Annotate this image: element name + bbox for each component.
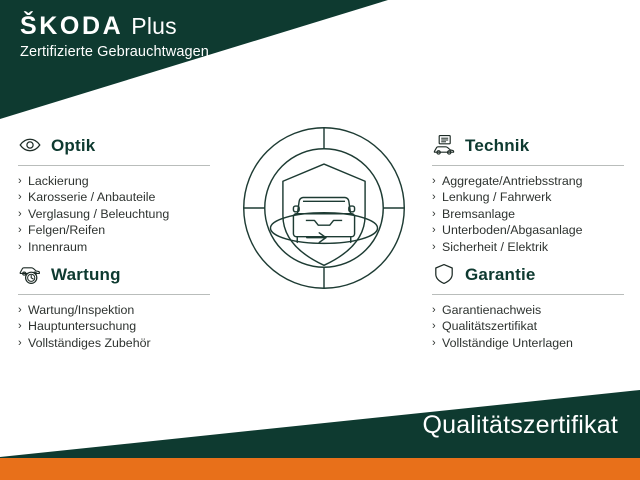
chevron-right-icon: › <box>18 318 22 334</box>
list-item-label: Vollständige Unterlagen <box>442 336 573 350</box>
section-wartung-title: Wartung <box>51 266 121 283</box>
list-item-label: Verglasung / Beleuchtung <box>28 207 169 221</box>
chevron-right-icon: › <box>18 189 22 205</box>
section-technik-title: Technik <box>465 137 529 154</box>
section-optik: Optik ›Lackierung ›Karosserie / Anbautei… <box>18 132 210 255</box>
chevron-right-icon: › <box>432 239 436 255</box>
section-garantie-list: ›Garantienachweis ›Qualitätszertifikat ›… <box>432 302 624 351</box>
section-garantie-title: Garantie <box>465 266 536 283</box>
list-item-label: Lenkung / Fahrwerk <box>442 190 552 204</box>
list-item: ›Garantienachweis <box>432 302 624 318</box>
brand-header: ŠKODA Plus Zertifizierte Gebrauchtwagen <box>20 14 209 60</box>
list-item-label: Aggregate/Antriebsstrang <box>442 174 583 188</box>
list-item: ›Unterboden/Abgasanlage <box>432 222 624 238</box>
section-wartung-list: ›Wartung/Inspektion ›Hauptuntersuchung ›… <box>18 302 210 351</box>
car-grille <box>306 220 342 225</box>
brand-tagline: Zertifizierte Gebrauchtwagen <box>20 44 209 60</box>
inner-arc-tl <box>265 149 324 208</box>
list-item-label: Qualitätszertifikat <box>442 319 537 333</box>
brand-sub-label: Plus <box>131 15 177 38</box>
shield-icon <box>432 262 456 286</box>
list-item: ›Vollständige Unterlagen <box>432 335 624 351</box>
chevron-right-icon: › <box>432 222 436 238</box>
list-item: ›Felgen/Reifen <box>18 222 210 238</box>
section-technik-rule <box>432 165 624 166</box>
car-service-clock-icon <box>18 262 42 286</box>
section-technik: Technik ›Aggregate/Antriebsstrang ›Lenku… <box>432 132 624 255</box>
section-optik-header: Optik <box>18 132 210 158</box>
list-item-label: Innenraum <box>28 240 87 254</box>
outer-arc-tr <box>324 128 404 208</box>
list-item: ›Karosserie / Anbauteile <box>18 189 210 205</box>
section-optik-list: ›Lackierung ›Karosserie / Anbauteile ›Ve… <box>18 173 210 255</box>
car-lift-icon <box>432 133 456 157</box>
list-item: ›Hauptuntersuchung <box>18 318 210 334</box>
chevron-right-icon: › <box>18 335 22 351</box>
list-item-label: Bremsanlage <box>442 207 515 221</box>
inner-arc-tr <box>324 149 383 208</box>
list-item-label: Wartung/Inspektion <box>28 303 134 317</box>
list-item-label: Hauptuntersuchung <box>28 319 136 333</box>
section-technik-list: ›Aggregate/Antriebsstrang ›Lenkung / Fah… <box>432 173 624 255</box>
section-wartung-header: Wartung <box>18 261 210 287</box>
list-item: ›Lackierung <box>18 173 210 189</box>
list-item: ›Vollständiges Zubehör <box>18 335 210 351</box>
chevron-right-icon: › <box>432 206 436 222</box>
brand-wordmark: ŠKODA <box>20 14 123 39</box>
shield-car-circle-icon <box>238 122 410 294</box>
list-item: ›Sicherheit / Elektrik <box>432 239 624 255</box>
list-item-label: Vollständiges Zubehör <box>28 336 151 350</box>
list-item-label: Unterboden/Abgasanlage <box>442 223 583 237</box>
section-wartung: Wartung ›Wartung/Inspektion ›Hauptunters… <box>18 261 210 351</box>
section-optik-rule <box>18 165 210 166</box>
footer-title: Qualitätszertifikat <box>422 413 618 438</box>
chevron-right-icon: › <box>18 206 22 222</box>
outer-arc-tl <box>244 128 324 208</box>
section-optik-title: Optik <box>51 137 95 154</box>
list-item: ›Qualitätszertifikat <box>432 318 624 334</box>
list-item: ›Innenraum <box>18 239 210 255</box>
chevron-right-icon: › <box>432 302 436 318</box>
section-garantie: Garantie ›Garantienachweis ›Qualitätszer… <box>432 261 624 351</box>
list-item-label: Sicherheit / Elektrik <box>442 240 548 254</box>
chevron-right-icon: › <box>432 173 436 189</box>
list-item: ›Wartung/Inspektion <box>18 302 210 318</box>
chevron-right-icon: › <box>432 189 436 205</box>
list-item: ›Bremsanlage <box>432 206 624 222</box>
list-item-label: Felgen/Reifen <box>28 223 105 237</box>
section-garantie-rule <box>432 294 624 295</box>
section-wartung-rule <box>18 294 210 295</box>
chevron-right-icon: › <box>18 302 22 318</box>
list-item-label: Lackierung <box>28 174 89 188</box>
chevron-right-icon: › <box>18 173 22 189</box>
inner-arc-br <box>324 208 383 267</box>
section-technik-header: Technik <box>432 132 624 158</box>
chevron-right-icon: › <box>432 335 436 351</box>
list-item-label: Garantienachweis <box>442 303 541 317</box>
infographic-page: ŠKODA Plus Zertifizierte Gebrauchtwagen … <box>0 0 640 480</box>
chevron-right-icon: › <box>432 318 436 334</box>
chevron-right-icon: › <box>18 239 22 255</box>
eye-icon <box>18 133 42 157</box>
brand-row: ŠKODA Plus <box>20 14 209 39</box>
list-item-label: Karosserie / Anbauteile <box>28 190 155 204</box>
chevron-right-icon: › <box>18 222 22 238</box>
list-item: ›Lenkung / Fahrwerk <box>432 189 624 205</box>
section-garantie-header: Garantie <box>432 261 624 287</box>
footer-orange-strip <box>0 458 640 480</box>
list-item: ›Verglasung / Beleuchtung <box>18 206 210 222</box>
list-item: ›Aggregate/Antriebsstrang <box>432 173 624 189</box>
